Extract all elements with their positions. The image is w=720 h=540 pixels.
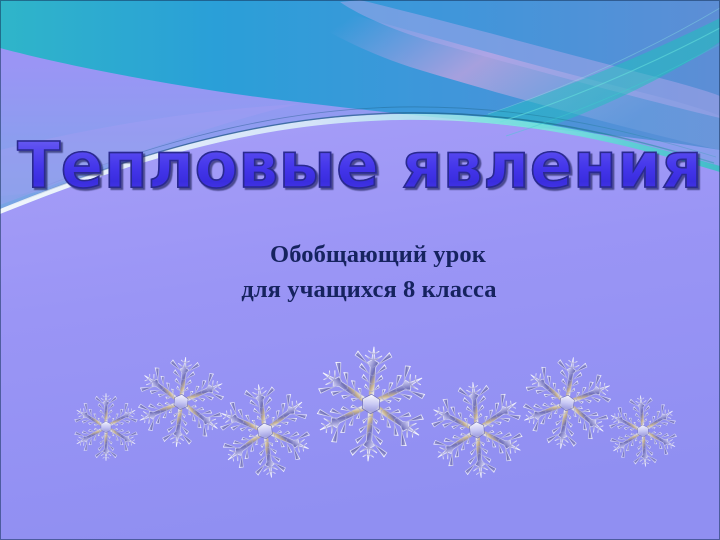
snowflake-4-icon [307,340,435,468]
snowflake-3-icon [209,375,322,488]
subtitle-line-1: Обобщающий урок [0,237,720,272]
page-title: Тепловые явления [17,134,702,198]
subtitle-line-2: для учащихся 8 класса [0,272,720,307]
snowflake-7-icon [602,390,683,471]
subtitle-area: Обобщающий урок для учащихся 8 класса [0,237,720,307]
presentation-slide: Тепловые явления Обобщающий урок для уча… [0,0,720,540]
title-area: Тепловые явления [0,134,720,198]
